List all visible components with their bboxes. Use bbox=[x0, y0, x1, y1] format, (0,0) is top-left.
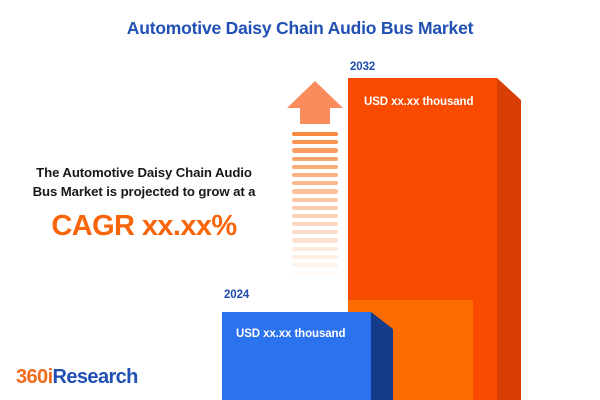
brand-logo-360i: 360i bbox=[16, 366, 53, 388]
arrow-segment bbox=[292, 189, 338, 193]
arrow-segment bbox=[292, 222, 338, 226]
arrow-segment bbox=[292, 279, 338, 283]
arrow-segment bbox=[292, 247, 338, 251]
cagr-statement-line-2: Bus Market is projected to grow at a bbox=[8, 182, 280, 201]
arrow-head-icon bbox=[286, 80, 344, 130]
arrow-segment bbox=[292, 263, 338, 267]
infographic-canvas: Automotive Daisy Chain Audio Bus Market … bbox=[0, 0, 600, 400]
arrow-segment bbox=[292, 230, 338, 234]
growth-arrow-icon bbox=[286, 80, 344, 288]
brand-logo: 360iResearch bbox=[16, 366, 138, 389]
bar-2024-year-label: 2024 bbox=[224, 289, 249, 301]
arrow-segment bbox=[292, 173, 338, 177]
arrow-gradient-stack bbox=[292, 132, 338, 288]
arrow-segment bbox=[292, 181, 338, 185]
cagr-value: CAGR xx.xx% bbox=[8, 208, 280, 244]
bar-2032-side-face bbox=[497, 78, 521, 400]
arrow-segment bbox=[292, 132, 338, 136]
arrow-segment bbox=[292, 206, 338, 210]
arrow-segment bbox=[292, 238, 338, 242]
cagr-statement: The Automotive Daisy Chain Audio Bus Mar… bbox=[8, 163, 280, 244]
bar-2032-value-label: USD xx.xx thousand bbox=[364, 96, 473, 108]
arrow-segment bbox=[292, 214, 338, 218]
arrow-segment bbox=[292, 148, 338, 152]
arrow-segment bbox=[292, 140, 338, 144]
bar-2024-front-face bbox=[222, 312, 371, 400]
brand-logo-research: Research bbox=[53, 366, 138, 388]
cagr-statement-line-1: The Automotive Daisy Chain Audio bbox=[8, 163, 280, 182]
bar-2032-year-label: 2032 bbox=[350, 61, 375, 73]
arrow-segment bbox=[292, 255, 338, 259]
arrow-segment bbox=[292, 271, 338, 275]
arrow-segment bbox=[292, 165, 338, 169]
bar-2024-value-label: USD xx.xx thousand bbox=[236, 328, 345, 340]
page-title: Automotive Daisy Chain Audio Bus Market bbox=[0, 18, 600, 39]
arrow-segment bbox=[292, 198, 338, 202]
arrow-segment bbox=[292, 157, 338, 161]
